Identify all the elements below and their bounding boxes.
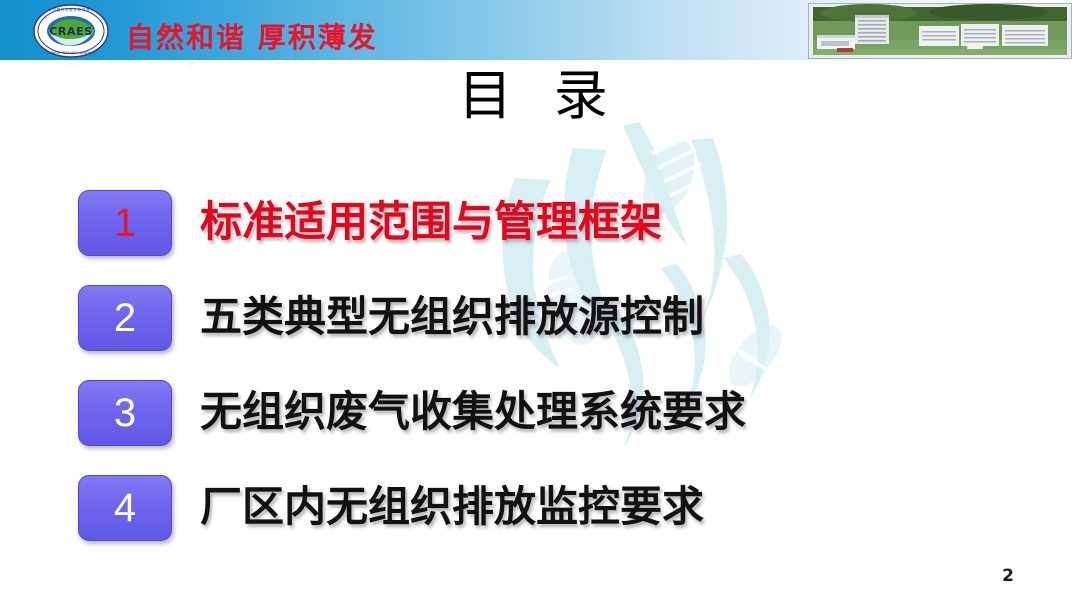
toc-number-badge-1[interactable]: 1 xyxy=(78,190,172,256)
toc-number-badge-2[interactable]: 2 xyxy=(78,285,172,351)
toc-item-4[interactable]: 4 厂区内无组织排放监控要求 xyxy=(0,471,1080,566)
toc-list: 1 标准适用范围与管理框架 2 五类典型无组织排放源控制 3 无组织废气收集处理… xyxy=(0,186,1080,566)
toc-number-badge-4[interactable]: 4 xyxy=(78,475,172,541)
toc-number-badge-3[interactable]: 3 xyxy=(78,380,172,446)
toc-item-1[interactable]: 1 标准适用范围与管理框架 xyxy=(0,186,1080,281)
campus-aerial-photo-icon xyxy=(808,3,1072,59)
toc-label-1[interactable]: 标准适用范围与管理框架 xyxy=(200,186,662,258)
slide-canvas: CRAES ★ 中 国 环 境 科 学 研 究 院 ★ CHINESE RESE… xyxy=(0,0,1080,607)
svg-text:CRAES: CRAES xyxy=(49,25,93,38)
toc-item-2[interactable]: 2 五类典型无组织排放源控制 xyxy=(0,281,1080,376)
svg-text:★ 中 国 环 境 科 学 研 究 院 ★: ★ 中 国 环 境 科 学 研 究 院 ★ xyxy=(49,7,94,12)
toc-label-4[interactable]: 厂区内无组织排放监控要求 xyxy=(200,471,704,543)
page-title: 目 录 xyxy=(0,68,1080,125)
page-number: 2 xyxy=(1002,566,1014,586)
svg-text:CHINESE RESEARCH ACADEMY: CHINESE RESEARCH ACADEMY xyxy=(47,51,96,55)
header-bar: CRAES ★ 中 国 环 境 科 学 研 究 院 ★ CHINESE RESE… xyxy=(0,0,1080,60)
toc-item-3[interactable]: 3 无组织废气收集处理系统要求 xyxy=(0,376,1080,471)
toc-label-3[interactable]: 无组织废气收集处理系统要求 xyxy=(200,376,746,448)
craes-logo-icon: CRAES ★ 中 国 环 境 科 学 研 究 院 ★ CHINESE RESE… xyxy=(32,4,110,58)
toc-label-2[interactable]: 五类典型无组织排放源控制 xyxy=(200,281,704,353)
header-slogan: 自然和谐 厚积薄发 xyxy=(126,16,378,56)
